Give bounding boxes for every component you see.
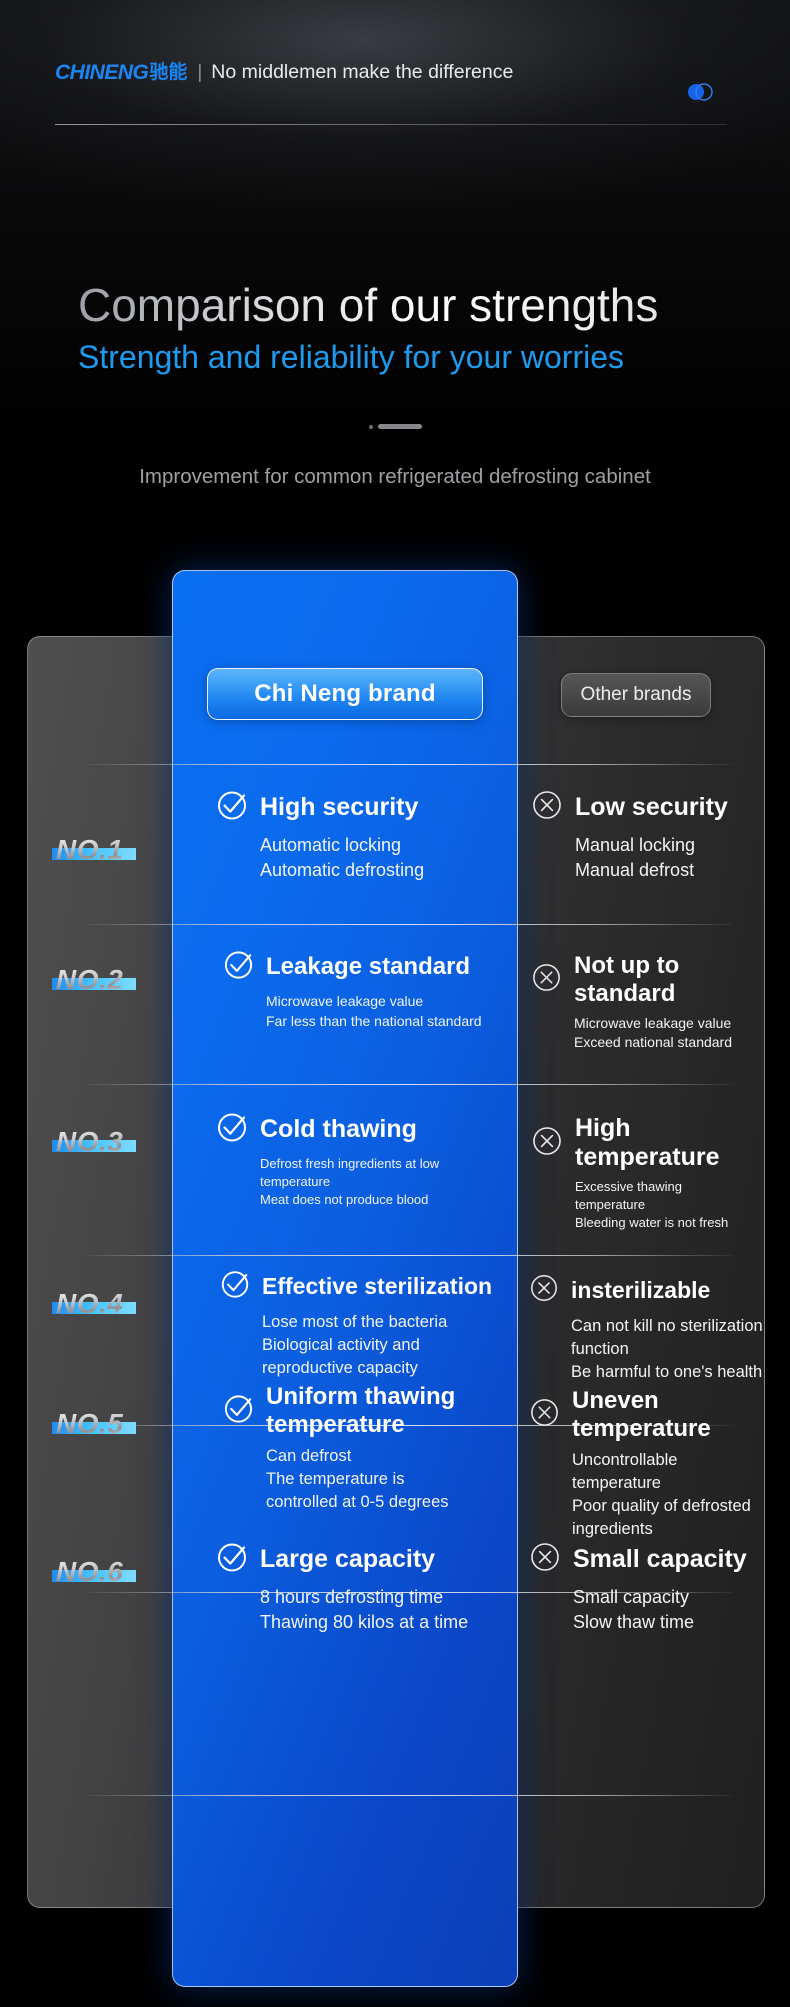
row-divider [85, 764, 733, 765]
row-divider [85, 1255, 733, 1256]
other-feature-description: Small capacitySlow thaw time [573, 1585, 768, 1635]
brand-feature-title: Cold thawing [260, 1115, 417, 1144]
brand-feature-line: Microwave leakage value [266, 992, 522, 1012]
brand-feature-cell: Effective sterilization Lose most of the… [219, 1268, 521, 1380]
brand-feature-heading: Cold thawing [215, 1110, 515, 1149]
brand-feature-heading: Effective sterilization [219, 1268, 521, 1305]
brand-feature-description: Can defrostThe temperature iscontrolled … [266, 1445, 522, 1514]
other-feature-heading: Not up to standard [530, 952, 762, 1008]
check-circle-icon [222, 948, 255, 986]
x-circle-icon [528, 1272, 560, 1309]
other-feature-description: Microwave leakage valueExceed national s… [574, 1014, 762, 1053]
other-feature-line: Can not kill no sterilization [571, 1315, 764, 1338]
page-root: CHINENG 驰能 | No middlemen make the diffe… [0, 0, 790, 2007]
x-circle-icon [530, 961, 563, 999]
other-feature-heading: Low security [530, 788, 762, 827]
other-feature-title: High temperature [575, 1114, 770, 1172]
brand-feature-description: Lose most of the bacteriaBiological acti… [262, 1311, 521, 1380]
x-circle-icon [530, 1124, 564, 1163]
other-feature-line: Manual locking [575, 833, 762, 858]
other-feature-heading: Small capacity [528, 1540, 768, 1579]
other-feature-heading: insterilizable [528, 1272, 764, 1309]
brand-feature-line: Can defrost [266, 1445, 522, 1468]
brand-feature-title: Uniform thawing temperature [266, 1383, 522, 1439]
other-feature-line: Microwave leakage value [574, 1014, 762, 1034]
brand-feature-line: controlled at 0-5 degrees [266, 1491, 522, 1514]
other-feature-title: Not up to standard [574, 952, 762, 1008]
brand-feature-cell: Large capacity 8 hours defrosting timeTh… [215, 1540, 515, 1635]
brand-feature-line: 8 hours defrosting time [260, 1585, 515, 1610]
row-divider [85, 1795, 733, 1796]
check-circle-icon [215, 1540, 249, 1579]
brand-feature-line: Defrost fresh ingredients at low [260, 1155, 515, 1173]
other-feature-title: Uneven temperature [572, 1387, 768, 1443]
other-feature-line: Manual defrost [575, 858, 762, 883]
other-feature-cell: Not up to standard Microwave leakage val… [530, 952, 762, 1053]
check-circle-icon [222, 1392, 255, 1430]
other-feature-line: function [571, 1338, 764, 1361]
brand-feature-title: Large capacity [260, 1545, 435, 1574]
other-feature-line: ingredients [572, 1518, 768, 1541]
other-feature-description: Excessive thawingtemperatureBleeding wat… [575, 1178, 770, 1233]
brand-feature-line: Biological activity and [262, 1334, 521, 1357]
other-column-pill[interactable]: Other brands [561, 673, 711, 717]
brand-feature-title: Leakage standard [266, 953, 470, 981]
other-feature-line: Be harmful to one's health [571, 1361, 764, 1384]
brand-feature-heading: Large capacity [215, 1540, 515, 1579]
brand-feature-title: High security [260, 793, 418, 822]
check-circle-icon [215, 788, 249, 827]
other-feature-line: Exceed national standard [574, 1033, 762, 1053]
x-circle-icon [528, 1540, 562, 1579]
other-feature-line: Bleeding water is not fresh [575, 1214, 770, 1232]
brand-feature-line: reproductive capacity [262, 1357, 521, 1380]
rank-label: NO.3 [56, 1128, 123, 1156]
row-divider [85, 924, 733, 925]
brand-feature-line: Automatic defrosting [260, 858, 515, 883]
rank-label: NO.5 [56, 1410, 123, 1438]
other-feature-line: Poor quality of defrosted [572, 1495, 768, 1518]
rank-label: NO.4 [56, 1290, 123, 1318]
rank-label: NO.1 [56, 836, 123, 864]
other-feature-cell: insterilizable Can not kill no steriliza… [528, 1272, 764, 1384]
comparison-header-row: Chi Neng brand Other brands [0, 668, 790, 746]
brand-feature-line: Thawing 80 kilos at a time [260, 1610, 515, 1635]
brand-feature-line: temperature [260, 1173, 515, 1191]
check-circle-icon [215, 1110, 249, 1149]
rank-label: NO.6 [56, 1558, 123, 1586]
brand-feature-heading: Leakage standard [222, 948, 522, 986]
brand-feature-cell: Cold thawing Defrost fresh ingredients a… [215, 1110, 515, 1210]
brand-feature-description: 8 hours defrosting timeThawing 80 kilos … [260, 1585, 515, 1635]
brand-feature-line: Automatic locking [260, 833, 515, 858]
other-feature-line: Excessive thawing [575, 1178, 770, 1196]
comparison-section: Chi Neng brand Other brands NO.1 High se… [0, 0, 790, 2007]
rank-label: NO.2 [56, 966, 123, 994]
other-feature-heading: Uneven temperature [528, 1387, 768, 1443]
brand-feature-cell: Uniform thawing temperature Can defrostT… [222, 1383, 522, 1514]
brand-feature-description: Microwave leakage valueFar less than the… [266, 992, 522, 1031]
brand-feature-heading: High security [215, 788, 515, 827]
check-circle-icon [219, 1268, 251, 1305]
other-feature-line: Small capacity [573, 1585, 768, 1610]
brand-feature-title: Effective sterilization [262, 1273, 492, 1300]
other-feature-cell: Low security Manual lockingManual defros… [530, 788, 762, 883]
other-feature-title: insterilizable [571, 1277, 710, 1304]
other-feature-description: Manual lockingManual defrost [575, 833, 762, 883]
brand-feature-cell: High security Automatic lockingAutomatic… [215, 788, 515, 883]
other-feature-line: temperature [575, 1196, 770, 1214]
other-feature-cell: High temperature Excessive thawingtemper… [530, 1114, 770, 1233]
brand-feature-line: The temperature is [266, 1468, 522, 1491]
other-feature-line: Uncontrollable temperature [572, 1449, 768, 1495]
brand-feature-description: Automatic lockingAutomatic defrosting [260, 833, 515, 883]
brand-column-pill[interactable]: Chi Neng brand [207, 668, 483, 720]
brand-feature-cell: Leakage standard Microwave leakage value… [222, 948, 522, 1031]
x-circle-icon [528, 1396, 561, 1434]
other-feature-line: Slow thaw time [573, 1610, 768, 1635]
brand-feature-line: Meat does not produce blood [260, 1191, 515, 1209]
other-feature-heading: High temperature [530, 1114, 770, 1172]
other-feature-title: Low security [575, 793, 728, 822]
other-feature-description: Uncontrollable temperaturePoor quality o… [572, 1449, 768, 1541]
other-feature-title: Small capacity [573, 1545, 747, 1574]
brand-feature-line: Lose most of the bacteria [262, 1311, 521, 1334]
other-feature-description: Can not kill no sterilizationfunctionBe … [571, 1315, 764, 1384]
x-circle-icon [530, 788, 564, 827]
other-feature-cell: Uneven temperature Uncontrollable temper… [528, 1387, 768, 1541]
other-feature-cell: Small capacity Small capacitySlow thaw t… [528, 1540, 768, 1635]
brand-feature-line: Far less than the national standard [266, 1012, 522, 1032]
brand-feature-description: Defrost fresh ingredients at lowtemperat… [260, 1155, 515, 1210]
row-divider [85, 1084, 733, 1085]
brand-feature-heading: Uniform thawing temperature [222, 1383, 522, 1439]
